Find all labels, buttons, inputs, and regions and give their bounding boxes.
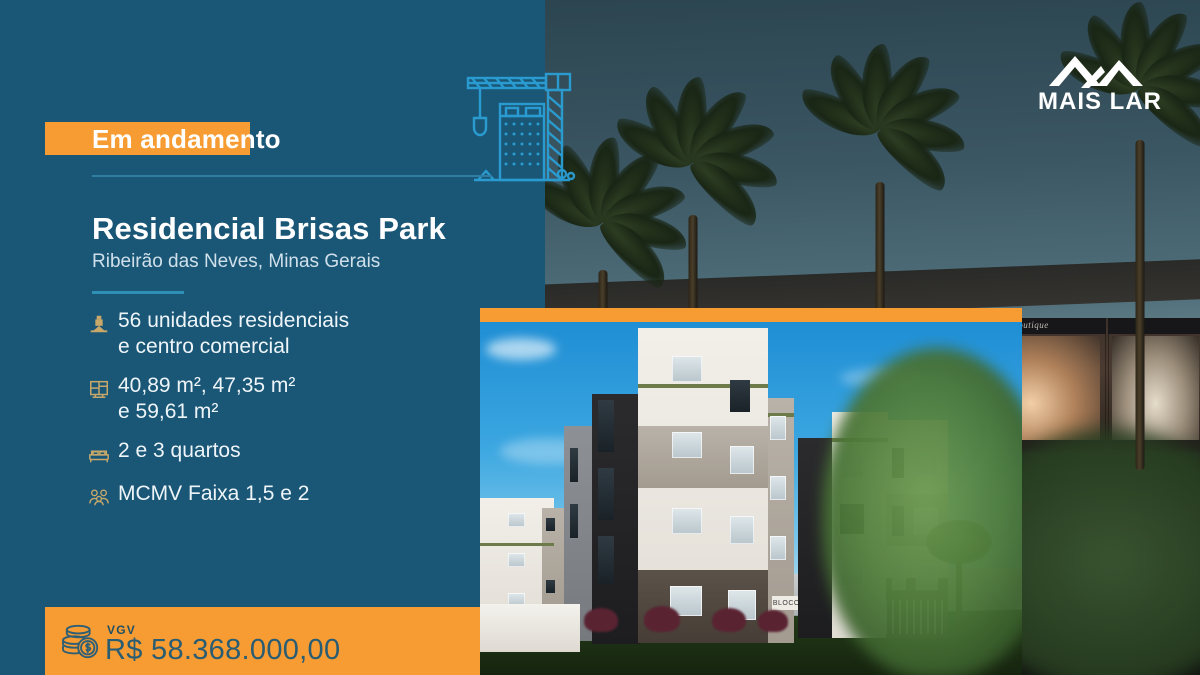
window xyxy=(730,446,754,474)
window xyxy=(672,432,702,458)
window xyxy=(730,380,750,412)
mountain-peaks-icon xyxy=(1035,50,1165,90)
list-item-label: 56 unidades residenciais e centro comerc… xyxy=(118,308,349,359)
list-item-label: 2 e 3 quartos xyxy=(118,438,241,464)
window xyxy=(672,508,702,534)
window xyxy=(508,553,525,567)
project-location: Ribeirão das Neves, Minas Gerais xyxy=(92,251,380,273)
shrub xyxy=(712,608,746,632)
heading-divider xyxy=(92,175,492,177)
facade-trim xyxy=(480,543,554,546)
window xyxy=(598,400,614,452)
window xyxy=(770,536,786,560)
coins-icon xyxy=(61,623,103,661)
list-item: 2 e 3 quartos xyxy=(88,438,508,467)
window xyxy=(598,536,614,584)
section-divider xyxy=(92,291,184,294)
list-item: MCMV Faixa 1,5 e 2 xyxy=(88,481,508,510)
window xyxy=(546,518,555,531)
palm-tree xyxy=(1055,70,1200,470)
window xyxy=(672,356,702,382)
vgv-bar: VGV R$ 58.368.000,00 xyxy=(45,607,550,675)
list-item: 40,89 m², 47,35 m² e 59,61 m² xyxy=(88,373,508,424)
window xyxy=(570,504,578,538)
window xyxy=(770,416,786,440)
status-label: Em andamento xyxy=(92,124,281,155)
feature-list: 56 unidades residenciais e centro comerc… xyxy=(88,308,508,524)
brand-name: MAIS LAR xyxy=(1035,88,1165,116)
perimeter-wall xyxy=(480,604,580,652)
cloud xyxy=(486,338,556,360)
family-icon xyxy=(88,481,118,510)
vgv-value: R$ 58.368.000,00 xyxy=(105,634,340,667)
window xyxy=(570,448,578,482)
list-item: 56 unidades residenciais e centro comerc… xyxy=(88,308,508,359)
shrub xyxy=(758,610,788,632)
shrub xyxy=(584,608,618,632)
floorplan-icon xyxy=(88,373,118,402)
construction-crane-icon xyxy=(462,56,582,191)
brand-logo: MAIS LAR xyxy=(1035,50,1165,116)
bed-icon xyxy=(88,438,118,467)
list-item-label: 40,89 m², 47,35 m² e 59,61 m² xyxy=(118,373,295,424)
promotional-slide: Ligmas LIGHT IN merlum boutique xyxy=(0,0,1200,675)
project-title: Residencial Brisas Park xyxy=(92,211,446,247)
window xyxy=(770,476,786,500)
shrub xyxy=(644,606,680,632)
window xyxy=(598,468,614,520)
building-icon xyxy=(88,308,118,337)
window xyxy=(508,513,525,527)
list-item-label: MCMV Faixa 1,5 e 2 xyxy=(118,481,309,507)
window xyxy=(730,516,754,544)
inset-photo: BLOCO 00 xyxy=(480,308,1022,675)
inset-top-accent-bar xyxy=(480,308,1022,322)
window xyxy=(546,580,555,593)
